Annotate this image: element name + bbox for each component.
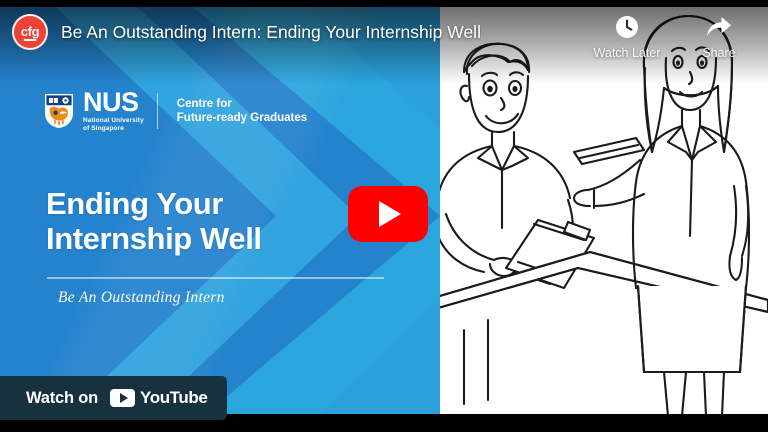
play-button[interactable] — [348, 186, 428, 242]
slide-subheading: Be An Outstanding Intern — [58, 289, 225, 307]
nus-sub-line1: National University — [83, 117, 144, 124]
channel-avatar-underline — [24, 39, 37, 41]
watch-later-label: Watch Later — [594, 46, 661, 60]
youtube-play-icon — [110, 389, 135, 407]
slide-headline: Ending Your Internship Well — [46, 186, 262, 256]
clock-icon — [614, 14, 640, 40]
share-button[interactable]: Share — [682, 14, 756, 60]
centre-line-2: Future-ready Graduates — [177, 112, 307, 124]
female-supervisor-figure — [574, 16, 749, 416]
youtube-embedded-player[interactable]: NUS National University of Singapore Cen… — [0, 0, 768, 432]
headline-line-1: Ending Your — [46, 186, 262, 221]
document-sheet — [574, 138, 644, 164]
nus-wordmark-text: NUS — [83, 90, 144, 115]
channel-avatar[interactable]: cfg — [12, 14, 48, 50]
youtube-wordmark: YouTube — [140, 388, 207, 408]
logo-divider — [157, 93, 158, 129]
centre-name: Centre for Future-ready Graduates — [177, 97, 307, 125]
watch-on-label: Watch on — [26, 389, 98, 408]
video-title[interactable]: Be An Outstanding Intern: Ending Your In… — [61, 22, 481, 43]
nus-sub-line2: of Singapore — [83, 125, 124, 132]
share-arrow-icon — [706, 14, 732, 40]
watch-on-youtube-button[interactable]: Watch on YouTube — [0, 376, 227, 420]
share-label: Share — [702, 46, 735, 60]
nus-wordmark: NUS National University of Singapore — [83, 90, 144, 132]
nus-wordmark-subtext: National University of Singapore — [83, 117, 144, 132]
channel-avatar-label: cfg — [21, 25, 40, 38]
nus-logo-lockup: NUS National University of Singapore Cen… — [44, 90, 307, 132]
nus-crest-icon — [44, 93, 74, 129]
watch-later-button[interactable]: Watch Later — [590, 14, 664, 60]
headline-rule — [47, 277, 384, 279]
headline-line-2: Internship Well — [46, 221, 262, 256]
letterbox-bar-top — [0, 0, 768, 7]
play-triangle-icon — [379, 201, 401, 227]
centre-line-1: Centre for — [177, 98, 232, 110]
youtube-logo: YouTube — [110, 388, 207, 408]
